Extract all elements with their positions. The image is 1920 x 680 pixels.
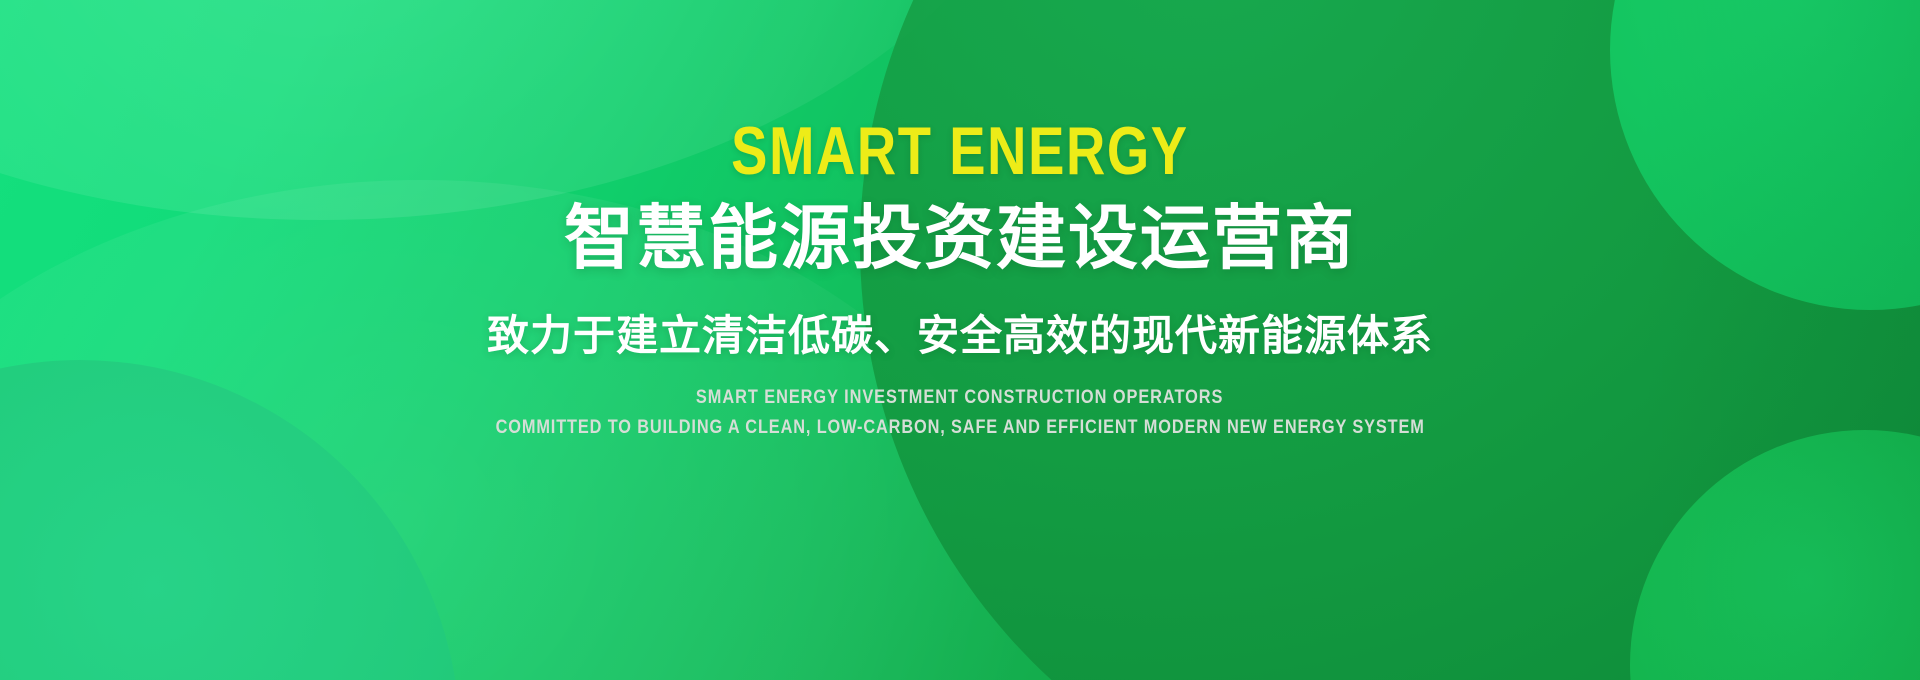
banner-headline-english: SMART ENERGY: [731, 117, 1188, 185]
banner-tagline-english-line-1: SMART ENERGY INVESTMENT CONSTRUCTION OPE…: [696, 388, 1223, 407]
banner-subtitle-chinese: 致力于建立清洁低碳、安全高效的现代新能源体系: [487, 311, 1433, 361]
banner-headline-chinese: 智慧能源投资建设运营商: [564, 199, 1356, 277]
smart-energy-hero-banner: SMART ENERGY 智慧能源投资建设运营商 致力于建立清洁低碳、安全高效的…: [0, 0, 1920, 680]
banner-content: SMART ENERGY 智慧能源投资建设运营商 致力于建立清洁低碳、安全高效的…: [0, 0, 1920, 680]
banner-tagline-english-line-2: COMMITTED TO BUILDING A CLEAN, LOW-CARBO…: [495, 418, 1424, 437]
